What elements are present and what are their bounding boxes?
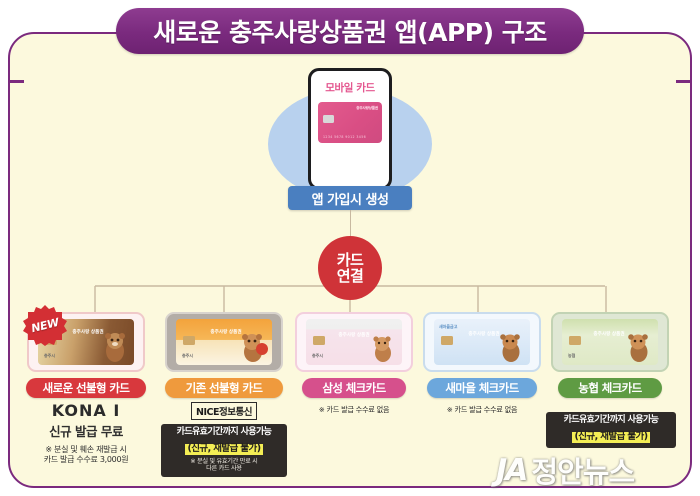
new-badge: NEW xyxy=(22,304,68,346)
card-pill-label-3: 삼성 체크카드 xyxy=(322,380,385,396)
watermark-text: 정안뉴스 xyxy=(531,449,634,491)
card-column-5: 농협 충주사랑 상품권 농협 체크카드 카드유효기간까지 사용가능 (신규, 재… xyxy=(546,312,674,448)
card-issuer-logo: 충주시 xyxy=(312,353,323,359)
app-signup-badge: 앱 가입시 생성 xyxy=(288,186,412,210)
card-validity-box-5: 카드유효기간까지 사용가능 (신규, 재발급 불가) xyxy=(546,412,676,448)
hub-line-1: 카드 xyxy=(337,252,363,268)
card-highlight-1: 신규 발급 무료 xyxy=(22,421,150,440)
mobile-card-section: 모바일 카드 충주사랑상품권 1234 5678 9012 3456 앱 가입시… xyxy=(262,64,438,214)
validity-line-1: 카드유효기간까지 사용가능 xyxy=(163,427,285,437)
card-pill-4: 새마을 체크카드 xyxy=(427,378,537,398)
card-note-4: ※ 카드 발급 수수료 없음 xyxy=(418,405,546,414)
otter-mascot-icon xyxy=(624,331,654,363)
card-pill-label-4: 새마을 체크카드 xyxy=(445,380,518,396)
card-brand-1: KONA I xyxy=(22,401,150,420)
card-column-3: 충주시 충주사랑 상품권 삼성 체크카드 ※ 카드 발급 수수료 없음 xyxy=(290,312,418,414)
card-column-2: 충주시 충주사랑 상품권 기존 선불형 카드 NICE정보통신 카드유효기간까지… xyxy=(160,312,288,477)
otter-mascot-icon xyxy=(368,331,398,363)
phone-screen-title: 모바일 카드 xyxy=(325,80,375,95)
card-art-title: 충주사랑 상품권 xyxy=(336,333,372,338)
watermark-logo: JA xyxy=(496,453,526,488)
otter-mascot-icon xyxy=(238,331,268,363)
mobile-card-number: 1234 5678 9012 3456 xyxy=(323,135,366,139)
card-chip-icon xyxy=(569,336,581,345)
card-thumb-2: 충주시 충주사랑 상품권 xyxy=(165,312,283,372)
card-chip-icon xyxy=(183,336,195,345)
page-title-text: 새로운 충주사랑상품권 앱(APP) 구조 xyxy=(153,13,546,49)
card-issuer-logo: 충주시 xyxy=(182,353,193,359)
card-pill-label-1: 새로운 선불형 카드 xyxy=(43,380,130,396)
card-issuer-2: NICE정보통신 xyxy=(191,402,257,420)
card-pill-label-5: 농협 체크카드 xyxy=(578,380,641,396)
infographic-root: 새로운 충주사랑상품권 앱(APP) 구조 모바일 카드 충주사랑상품권 123… xyxy=(0,0,700,496)
card-issuer-logo: 충주시 xyxy=(44,353,55,359)
phone-mockup: 모바일 카드 충주사랑상품권 1234 5678 9012 3456 xyxy=(308,68,392,190)
card-chip-icon xyxy=(323,115,334,123)
card-pill-5: 농협 체크카드 xyxy=(558,378,662,398)
mobile-card-brand: 충주사랑상품권 xyxy=(356,106,378,111)
card-art-4: 새마을금고 충주사랑 상품권 xyxy=(434,319,530,365)
otter-mascot-icon xyxy=(496,331,526,363)
card-note-3: ※ 카드 발급 수수료 없음 xyxy=(290,405,418,414)
card-issuer-logo: 새마을금고 xyxy=(439,324,457,330)
card-issuer-logo: 농협 xyxy=(568,353,575,359)
card-thumb-4: 새마을금고 충주사랑 상품권 xyxy=(423,312,541,372)
card-art-title: 충주사랑 상품권 xyxy=(592,332,626,337)
card-validity-box-2: 카드유효기간까지 사용가능 (신규, 재발급 불가) ※ 분실 및 유효기간 만… xyxy=(161,424,287,477)
otter-mascot-icon xyxy=(100,331,130,363)
page-title: 새로운 충주사랑상품권 앱(APP) 구조 xyxy=(116,8,584,54)
validity-line-2: (신규, 재발급 불가) xyxy=(185,444,264,455)
card-column-4: 새마을금고 충주사랑 상품권 새마을 체크카드 ※ 카드 발급 수수료 없음 xyxy=(418,312,546,414)
card-pill-2: 기존 선불형 카드 xyxy=(165,378,283,398)
frame-dash-left xyxy=(10,80,24,83)
card-note-1: ※ 분실 및 훼손 재발급 시 카드 발급 수수료 3,000원 xyxy=(22,445,150,465)
hub-line-2: 연결 xyxy=(337,268,363,284)
card-art-3: 충주시 충주사랑 상품권 xyxy=(306,319,402,365)
card-chip-icon xyxy=(313,336,325,345)
card-pill-3: 삼성 체크카드 xyxy=(302,378,406,398)
frame-dash-right xyxy=(676,80,690,83)
card-pill-1: 새로운 선불형 카드 xyxy=(26,378,146,398)
validity-line-2: (신규, 재발급 불가) xyxy=(572,432,651,443)
card-thumb-5: 농협 충주사랑 상품권 xyxy=(551,312,669,372)
app-signup-badge-label: 앱 가입시 생성 xyxy=(312,189,389,208)
watermark: JA 정안뉴스 xyxy=(496,448,696,492)
card-link-hub: 카드 연결 xyxy=(318,236,382,300)
validity-line-1: 카드유효기간까지 사용가능 xyxy=(548,415,674,425)
card-pill-label-2: 기존 선불형 카드 xyxy=(186,380,263,396)
card-chip-icon xyxy=(441,336,453,345)
validity-line-3: ※ 분실 및 유효기간 만료 시 다른 카드 사용 xyxy=(163,458,285,473)
card-art-5: 농협 충주사랑 상품권 xyxy=(562,319,658,365)
card-art-2: 충주시 충주사랑 상품권 xyxy=(176,319,272,365)
mobile-card-art: 충주사랑상품권 1234 5678 9012 3456 xyxy=(318,102,382,143)
card-thumb-3: 충주시 충주사랑 상품권 xyxy=(295,312,413,372)
